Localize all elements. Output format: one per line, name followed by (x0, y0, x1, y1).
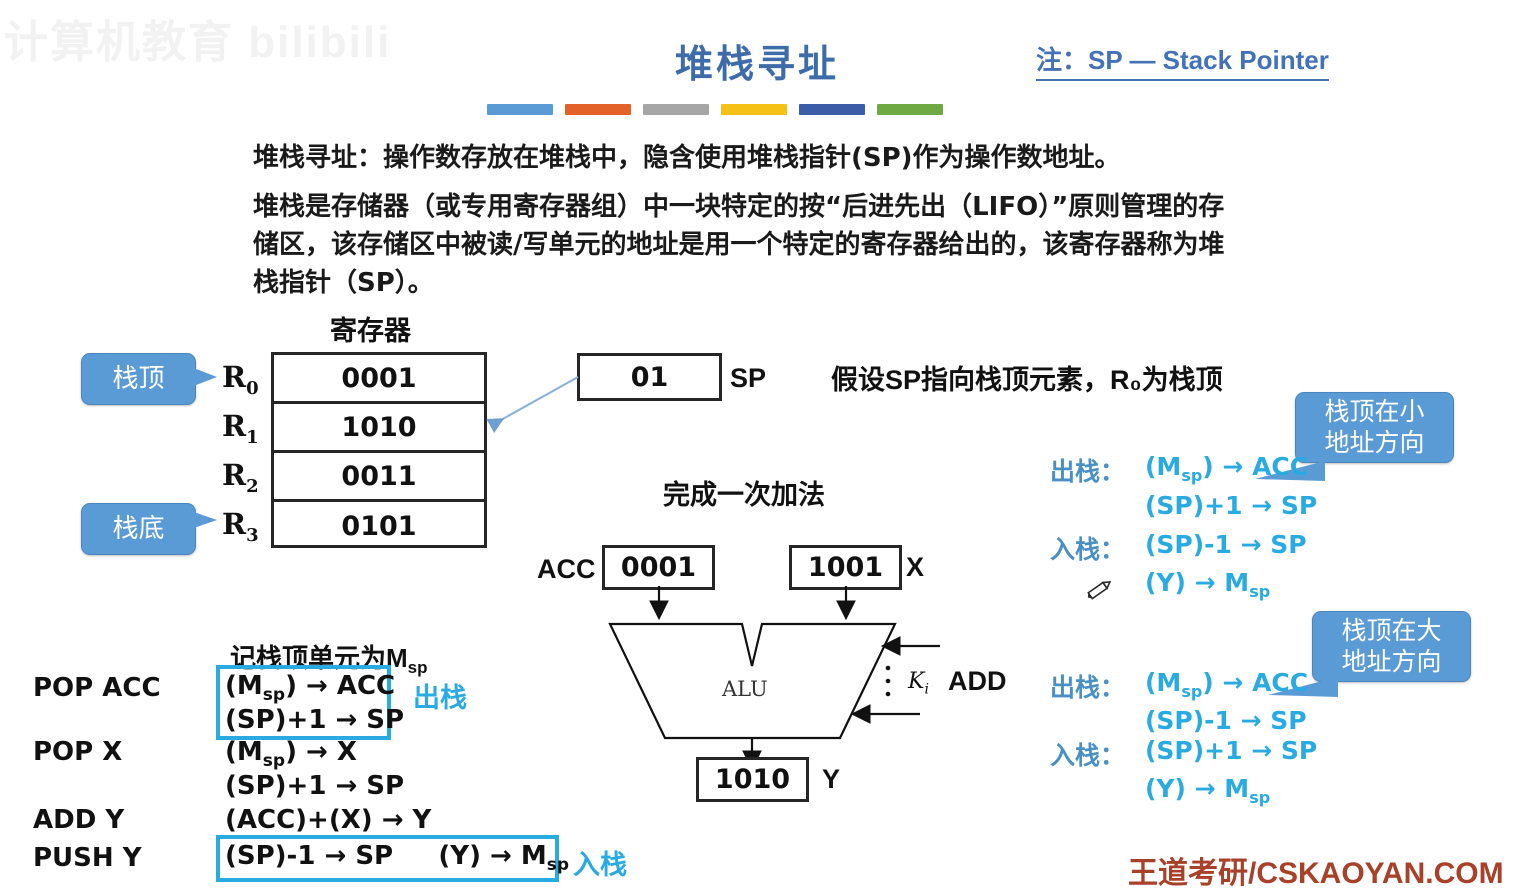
sp-box-label: SP (730, 363, 766, 394)
site-watermark: 王道考研/CSKAOYAN.COM (1128, 848, 1504, 892)
note-sp-definition: 注：SP — Stack Pointer (1036, 40, 1329, 81)
callout-line: 地址方向 (1296, 427, 1453, 458)
decor-bar-5 (799, 104, 865, 115)
callout-line: 栈顶在小 (1296, 396, 1453, 427)
x-label: X (906, 552, 924, 583)
instruction-mnemonic-pop-x: POP X (33, 737, 122, 767)
pop-line-1-0: (Msp) → ACC (1145, 452, 1308, 485)
callout-stack-bottom-label: 栈底 (81, 503, 196, 555)
callout-large-address-text: 栈顶在大 地址方向 (1312, 611, 1471, 682)
table-row: 0101 (274, 502, 484, 551)
pop-line-2-0: (Msp) → ACC (1145, 668, 1308, 701)
callout-stack-top-label: 栈顶 (81, 353, 196, 405)
acc-value-box: 0001 (602, 545, 715, 590)
x-value-box: 1001 (789, 545, 902, 590)
instruction-op-pop-x-1: (SP)+1 → SP (225, 771, 404, 801)
alu-caption: 完成一次加法 (663, 473, 825, 512)
decor-bar-1 (487, 104, 553, 115)
instruction-mnemonic-pop-acc: POP ACC (33, 673, 161, 703)
push-key-1: 入栈： (1050, 530, 1125, 566)
title-decor-bars (487, 104, 943, 115)
alu-diagram (600, 586, 950, 786)
register-name-r0: R0 (222, 360, 259, 399)
table-row: 1010 (274, 404, 484, 453)
acc-label: ACC (537, 554, 596, 585)
register-table-caption: 寄存器 (330, 309, 411, 348)
pencil-cursor-icon (1082, 572, 1116, 606)
decor-bar-2 (565, 104, 631, 115)
register-name-r2: R2 (222, 458, 259, 497)
alu-control-k-label: Ki (908, 669, 929, 697)
sp-pointer-arrow (480, 375, 590, 435)
callout-small-address-text: 栈顶在小 地址方向 (1295, 392, 1454, 463)
callout-tail (191, 367, 217, 387)
instruction-op-push-y-0: (SP)-1 → SP (Y) → Msp (225, 841, 569, 875)
callout-small-address: 栈顶在小 地址方向 (1295, 392, 1454, 463)
register-table: 0001 1010 0011 0101 (271, 352, 487, 548)
pop-key-1: 出栈： (1050, 452, 1125, 488)
push-line-2-0: (SP)+1 → SP (1145, 736, 1317, 765)
y-result-box: 1010 (696, 757, 809, 802)
instruction-op-pop-acc-1: (SP)+1 → SP (225, 705, 404, 735)
y-result-label: Y (822, 764, 840, 795)
instruction-op-pop-x-0: (Msp) → X (225, 737, 357, 771)
table-row: 0001 (274, 355, 484, 404)
pop-line-2-1: (SP)-1 → SP (1145, 706, 1307, 735)
callout-line: 栈顶在大 (1313, 615, 1470, 646)
instruction-op-pop-acc-0: (Msp) → ACC (225, 671, 395, 705)
instruction-op-add-y-0: (ACC)+(X) → Y (225, 805, 431, 835)
push-line-1-1: (Y) → Msp (1145, 568, 1270, 601)
callout-tail (191, 511, 217, 529)
decor-bar-4 (721, 104, 787, 115)
push-key-2: 入栈： (1050, 736, 1125, 772)
push-line-2-1: (Y) → Msp (1145, 774, 1270, 807)
alu-label: ALU (722, 677, 768, 701)
paragraph-definition: 堆栈寻址：操作数存放在堆栈中，隐含使用堆栈指针(SP)作为操作数地址。 (253, 137, 1121, 174)
assumption-text: 假设SP指向栈顶元素，R₀为栈顶 (831, 358, 1223, 397)
push-line-1-0: (SP)-1 → SP (1145, 530, 1307, 559)
sp-value-box: 01 (577, 353, 722, 401)
register-name-r1: R1 (222, 409, 259, 448)
callout-stack-top: 栈顶 (81, 353, 196, 405)
callout-stack-bottom: 栈底 (81, 503, 196, 555)
instruction-mnemonic-push-y: PUSH Y (33, 843, 142, 873)
instruction-tag-push: 入栈 (573, 843, 627, 882)
table-row: 0011 (274, 453, 484, 502)
pop-line-1-1: (SP)+1 → SP (1145, 491, 1317, 520)
instruction-mnemonic-add-y: ADD Y (33, 805, 124, 835)
pop-key-2: 出栈： (1050, 668, 1125, 704)
instruction-tag-pop: 出栈 (413, 676, 467, 715)
register-name-r3: R3 (222, 507, 259, 546)
decor-bar-6 (877, 104, 943, 115)
callout-large-address: 栈顶在大 地址方向 (1312, 611, 1471, 682)
decor-bar-3 (643, 104, 709, 115)
alu-op-label: ADD (948, 666, 1007, 697)
paragraph-description: 堆栈是存储器（或专用寄存器组）中一块特定的按“后进先出（LIFO）”原则管理的存… (253, 188, 1233, 302)
